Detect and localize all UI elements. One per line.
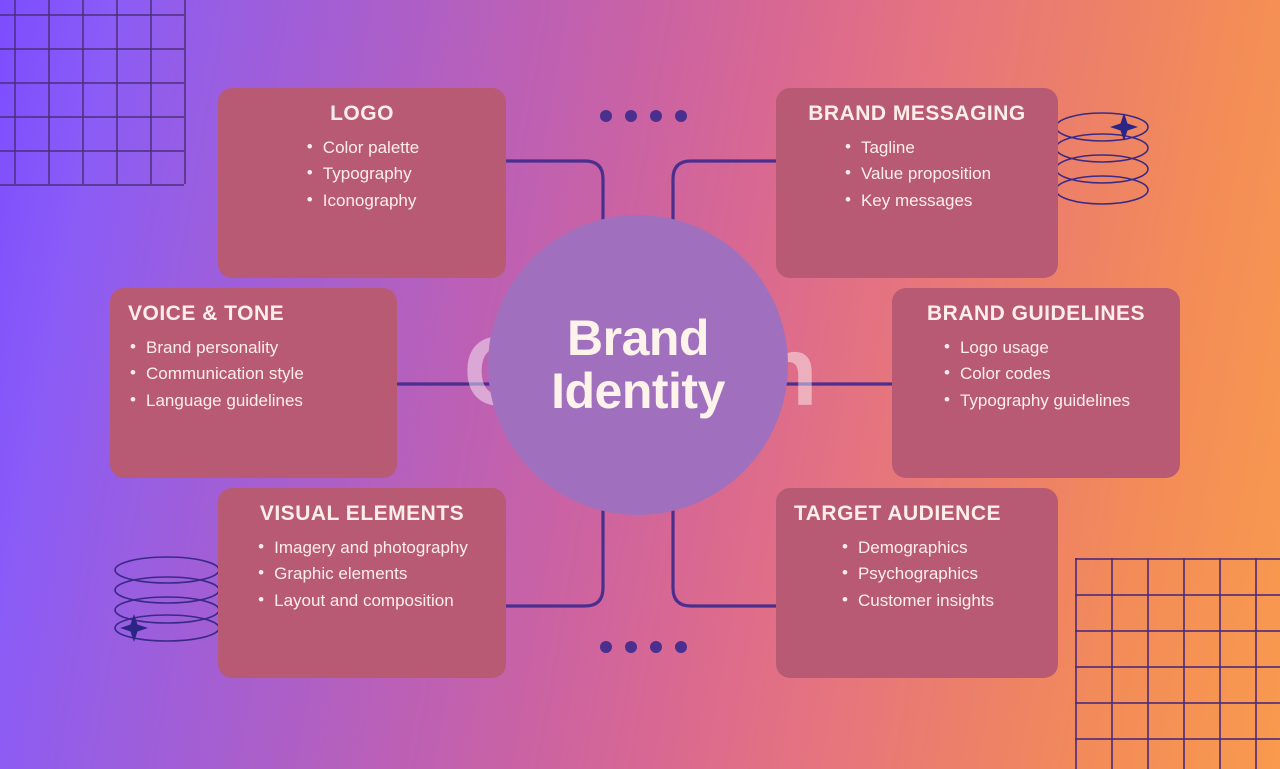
list-item: Iconography [305,188,419,215]
card-title-target-audience: TARGET AUDIENCE [794,502,1040,527]
list-item: Value proposition [843,161,991,188]
dotted-divider-icon-bottom-dot [625,641,637,653]
dotted-divider-icon-bottom-dot [650,641,662,653]
dotted-divider-icon-bottom-dot [600,641,612,653]
grid-pattern-icon-top-left [0,0,210,195]
list-item: Imagery and photography [256,535,468,562]
list-item: Graphic elements [256,561,468,588]
spiral-sparkle-icon-right [1055,105,1165,220]
card-list-visual-elements: Imagery and photography Graphic elements… [256,535,468,615]
connector-visual-elements [506,500,603,606]
list-item: Layout and composition [256,588,468,615]
connector-target-audience [673,500,776,606]
list-item: Logo usage [942,335,1130,362]
list-item: Color palette [305,135,419,162]
list-item: Psychographics [840,561,994,588]
list-item: Brand personality [128,335,304,362]
list-item: Color codes [942,361,1130,388]
dotted-divider-icon-top-dot [650,110,662,122]
card-list-brand-messaging: Tagline Value proposition Key messages [843,135,991,215]
card-title-visual-elements: VISUAL ELEMENTS [236,502,488,527]
dotted-divider-icon-bottom-dot [675,641,687,653]
card-title-brand-guidelines: BRAND GUIDELINES [910,302,1162,327]
grid-pattern-icon-bottom-right [1075,558,1280,769]
card-target-audience[interactable]: TARGET AUDIENCE Demographics Psychograph… [776,488,1058,678]
card-visual-elements[interactable]: VISUAL ELEMENTS Imagery and photography … [218,488,506,678]
list-item: Key messages [843,188,991,215]
list-item: Typography guidelines [942,388,1130,415]
list-item: Communication style [128,361,304,388]
list-item: Language guidelines [128,388,304,415]
card-logo[interactable]: LOGO Color palette Typography Iconograph… [218,88,506,278]
card-list-voice-tone: Brand personality Communication style La… [128,335,304,415]
card-title-logo: LOGO [236,102,488,127]
dotted-divider-icon-top-dot [600,110,612,122]
list-item: Tagline [843,135,991,162]
card-list-target-audience: Demographics Psychographics Customer ins… [840,535,994,615]
card-title-brand-messaging: BRAND MESSAGING [794,102,1040,127]
list-item: Typography [305,161,419,188]
card-title-voice-tone: VOICE & TONE [128,302,379,327]
card-list-logo: Color palette Typography Iconography [305,135,419,215]
card-voice-tone[interactable]: VOICE & TONE Brand personality Communica… [110,288,397,478]
dotted-divider-icon-top-dot [625,110,637,122]
center-title: Brand Identity [488,215,788,515]
spiral-sparkle-icon-left [112,552,222,652]
list-item: Customer insights [840,588,994,615]
center-title-line2: Identity [551,365,725,418]
card-list-brand-guidelines: Logo usage Color codes Typography guidel… [942,335,1130,415]
card-brand-guidelines[interactable]: BRAND GUIDELINES Logo usage Color codes … [892,288,1180,478]
center-title-line1: Brand [567,312,709,365]
dotted-divider-icon-top-dot [675,110,687,122]
card-brand-messaging[interactable]: BRAND MESSAGING Tagline Value propositio… [776,88,1058,278]
list-item: Demographics [840,535,994,562]
